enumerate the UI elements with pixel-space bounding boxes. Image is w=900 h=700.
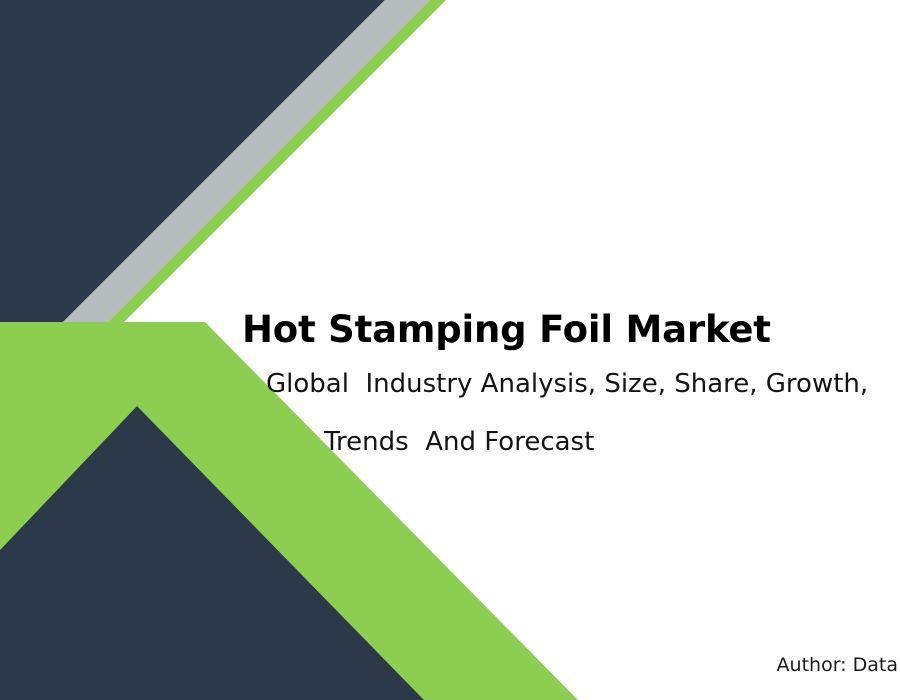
author-credit: Author: Data [777,653,898,677]
cover-text-layer: Hot Stamping Foil Market Global Industry… [0,0,900,700]
subtitle-line-2: Trends And Forecast [324,425,594,459]
report-cover: Hot Stamping Foil Market Global Industry… [0,0,900,700]
page-title: Hot Stamping Foil Market [242,307,771,353]
subtitle-line-1: Global Industry Analysis, Size, Share, G… [266,367,868,401]
